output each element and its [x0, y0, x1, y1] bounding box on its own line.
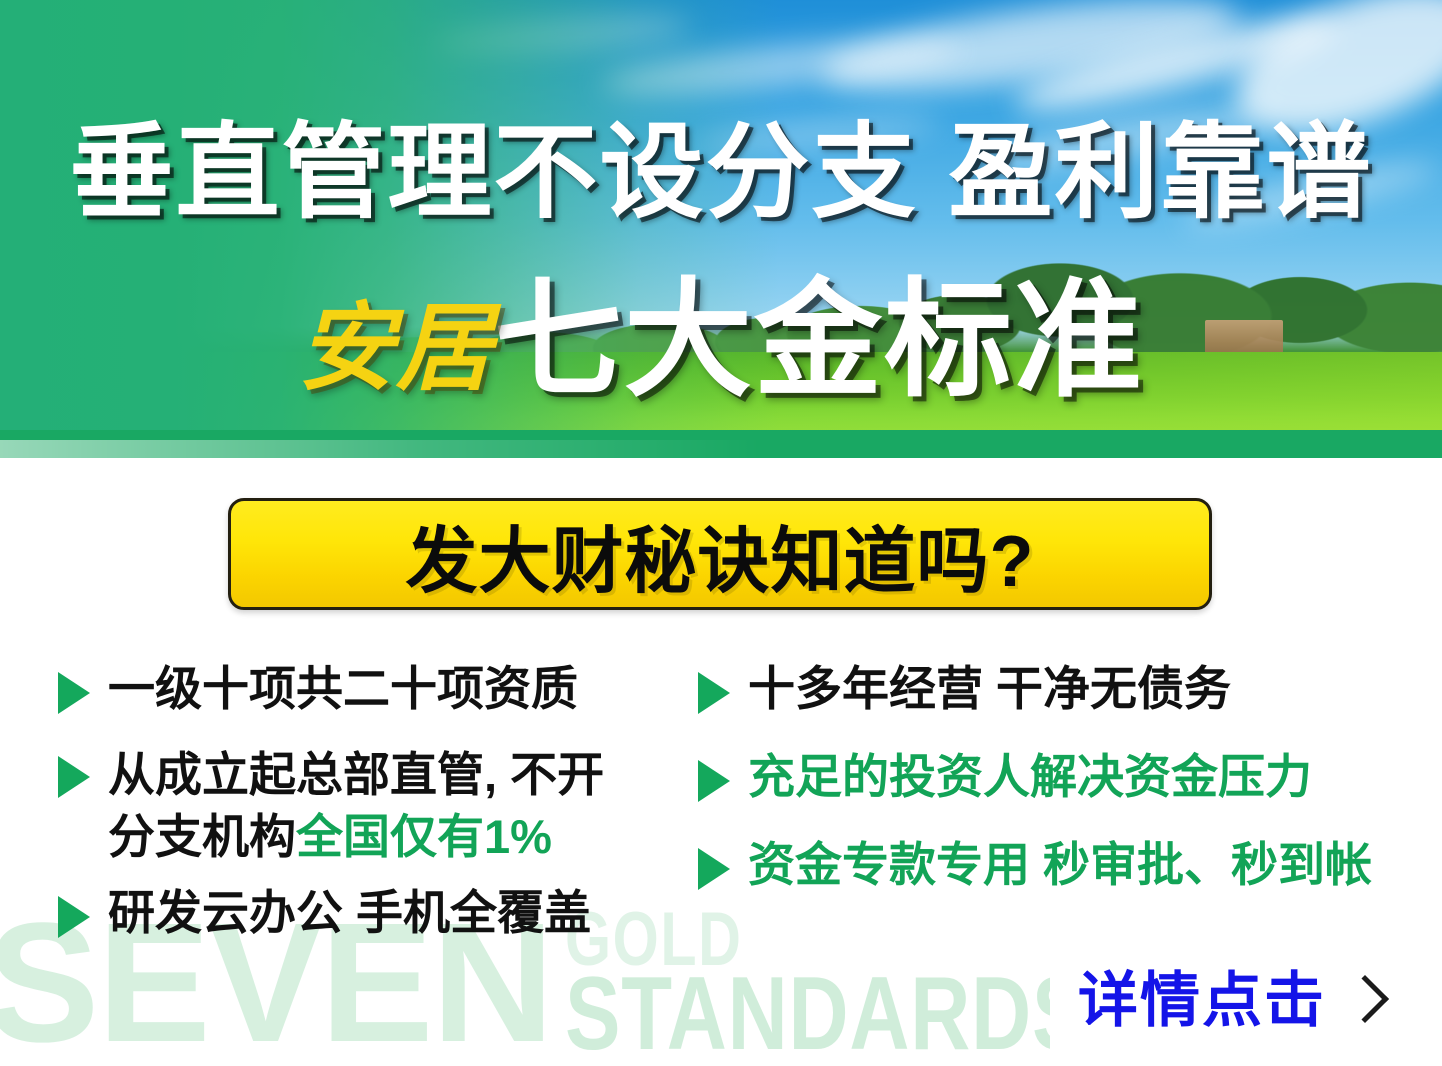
feature-text: 一级十项共二十项资质: [108, 660, 578, 718]
triangle-right-icon: [58, 756, 90, 798]
feature-item-headquarters-direct: 从成立起总部直管, 不开 分支机构全国仅有1%: [58, 744, 698, 868]
triangle-right-icon: [58, 672, 90, 714]
feature-text-line2: 分支机构: [108, 810, 296, 863]
headline-seven-standards: 七大金标准: [494, 278, 1144, 404]
feature-column-left: 一级十项共二十项资质 从成立起总部直管, 不开 分支机构全国仅有1% 研发云办公…: [58, 660, 698, 942]
advertisement-poster: 垂直管理不设分支 盈利靠谱 安居七大金标准 发大财秘诀知道吗? SEVEN GO…: [0, 0, 1442, 1066]
cta-details-link[interactable]: 详情点击: [1078, 970, 1382, 1032]
feature-text: 十多年经营 干净无债务: [748, 660, 1231, 718]
feature-list: 一级十项共二十项资质 从成立起总部直管, 不开 分支机构全国仅有1% 研发云办公…: [0, 660, 1442, 990]
cta-label: 详情点击: [1078, 970, 1326, 1032]
feature-text-line1: 从成立起总部直管, 不开: [108, 748, 604, 801]
feature-column-right: 十多年经营 干净无债务 充足的投资人解决资金压力 资金专款专用 秒审批、秒到帐: [698, 660, 1418, 894]
triangle-right-icon: [58, 896, 90, 938]
feature-item-ten-years: 十多年经营 干净无债务: [698, 660, 1418, 718]
triangle-right-icon: [698, 760, 730, 802]
feature-item-cloud-office: 研发云办公 手机全覆盖: [58, 884, 698, 942]
yellow-question-banner[interactable]: 发大财秘诀知道吗?: [228, 498, 1212, 610]
hero-banner: 垂直管理不设分支 盈利靠谱 安居七大金标准: [0, 0, 1442, 458]
feature-item-dedicated-funds: 资金专款专用 秒审批、秒到帐: [698, 836, 1418, 894]
feature-text: 资金专款专用 秒审批、秒到帐: [748, 836, 1372, 894]
banner-text: 发大财秘诀知道吗?: [406, 502, 1035, 607]
brand-name-text: 安居: [298, 286, 494, 412]
feature-text: 从成立起总部直管, 不开 分支机构全国仅有1%: [108, 744, 604, 868]
feature-text-highlight: 全国仅有1%: [296, 810, 552, 863]
triangle-right-icon: [698, 848, 730, 890]
feature-item-investors: 充足的投资人解决资金压力: [698, 748, 1418, 806]
hero-bottom-fade: [0, 440, 760, 458]
feature-text: 充足的投资人解决资金压力: [748, 748, 1312, 806]
feature-item-qualifications: 一级十项共二十项资质: [58, 660, 698, 718]
chevron-right-icon: [1341, 975, 1389, 1023]
feature-text: 研发云办公 手机全覆盖: [108, 884, 591, 942]
headline-secondary: 安居七大金标准: [0, 278, 1442, 404]
triangle-right-icon: [698, 672, 730, 714]
headline-primary: 垂直管理不设分支 盈利靠谱: [0, 118, 1442, 228]
